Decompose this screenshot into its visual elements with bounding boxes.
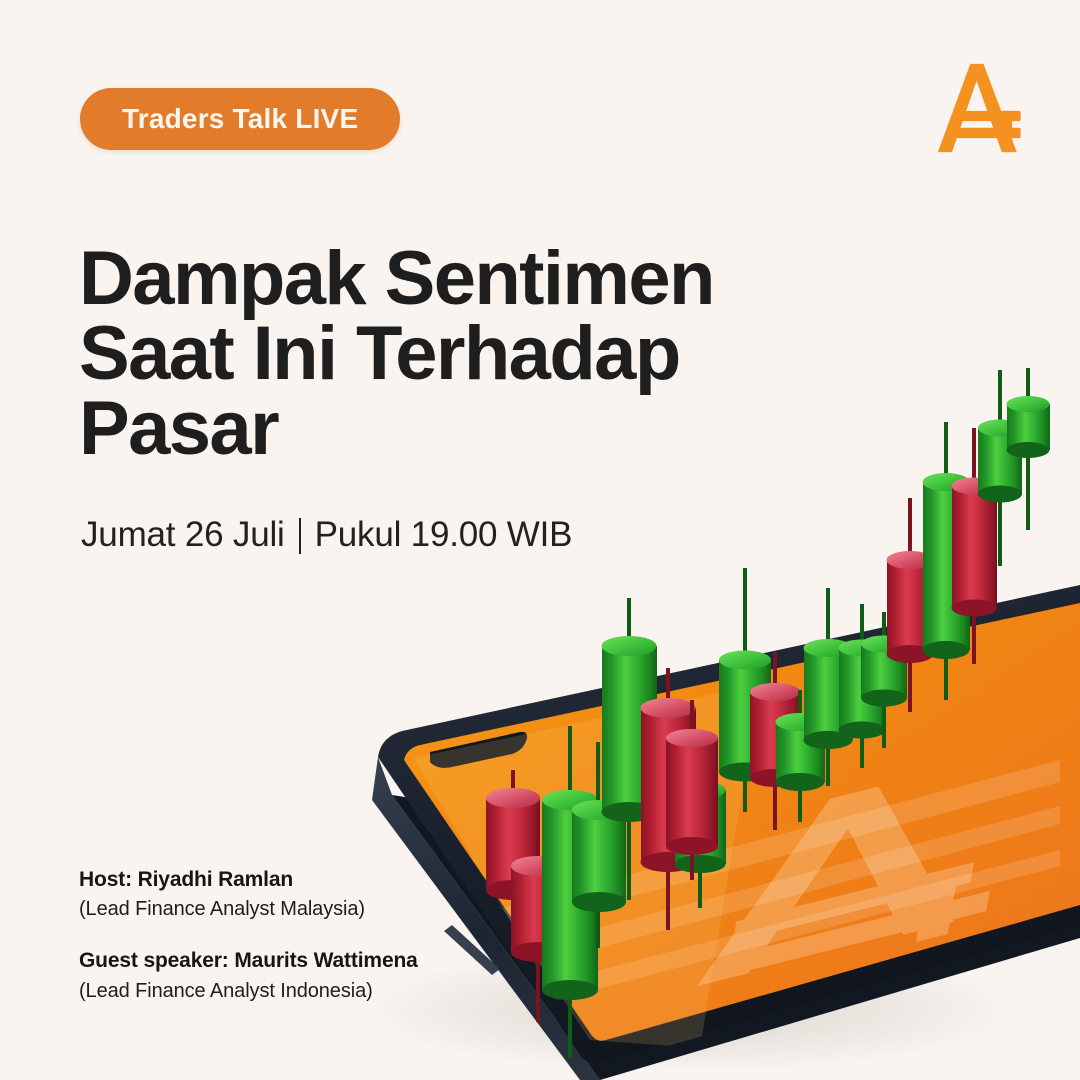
candle-8 bbox=[666, 700, 718, 880]
credit-host-role: (Lead Finance Analyst Malaysia) bbox=[79, 896, 549, 923]
candle-14 bbox=[861, 612, 907, 748]
candle-15 bbox=[887, 498, 935, 712]
candle-17 bbox=[952, 428, 998, 664]
credit-guest-role: (Lead Finance Analyst Indonesia) bbox=[79, 978, 549, 1005]
schedule-divider bbox=[299, 518, 301, 554]
candle-11 bbox=[776, 690, 826, 822]
phone-device bbox=[372, 585, 1080, 1080]
headline-line-1: Dampak Sentimen bbox=[79, 241, 799, 316]
schedule-date: Jumat 26 Juli bbox=[81, 515, 285, 555]
candle-9 bbox=[719, 568, 771, 812]
headline-line-2: Saat Ini Terhadap bbox=[79, 316, 799, 391]
page-title: Dampak Sentimen Saat Ini Terhadap Pasar bbox=[79, 241, 799, 467]
candle-6 bbox=[641, 668, 697, 930]
candle-13 bbox=[839, 604, 887, 768]
candle-4 bbox=[572, 742, 626, 948]
live-badge-label: Traders Talk LIVE bbox=[122, 103, 358, 135]
credit-guest-name: Guest speaker: Maurits Wattimena bbox=[79, 947, 549, 974]
candle-19 bbox=[1007, 368, 1051, 530]
credit-guest: Guest speaker: Maurits Wattimena (Lead F… bbox=[79, 947, 549, 1004]
schedule-line: Jumat 26 Juli Pukul 19.00 WIB bbox=[81, 515, 572, 555]
poster-canvas: Traders Talk LIVE Dampak Sentimen Saat I… bbox=[0, 0, 1080, 1080]
screen-watermark-logo bbox=[695, 753, 1014, 997]
credits-block: Host: Riyadhi Ramlan (Lead Finance Analy… bbox=[79, 866, 549, 1005]
candle-16 bbox=[923, 422, 971, 700]
live-badge: Traders Talk LIVE bbox=[80, 88, 400, 150]
credit-host-name: Host: Riyadhi Ramlan bbox=[79, 866, 549, 893]
brand-logo-a-icon bbox=[936, 58, 1030, 158]
schedule-time: Pukul 19.00 WIB bbox=[315, 515, 573, 555]
credit-host: Host: Riyadhi Ramlan (Lead Finance Analy… bbox=[79, 866, 549, 923]
headline-line-3: Pasar bbox=[79, 391, 799, 466]
candle-10 bbox=[750, 652, 800, 830]
candle-7 bbox=[675, 740, 727, 908]
candle-3 bbox=[542, 726, 598, 1058]
candle-18 bbox=[978, 370, 1022, 566]
candle-5 bbox=[602, 598, 658, 900]
candle-12 bbox=[804, 588, 854, 786]
